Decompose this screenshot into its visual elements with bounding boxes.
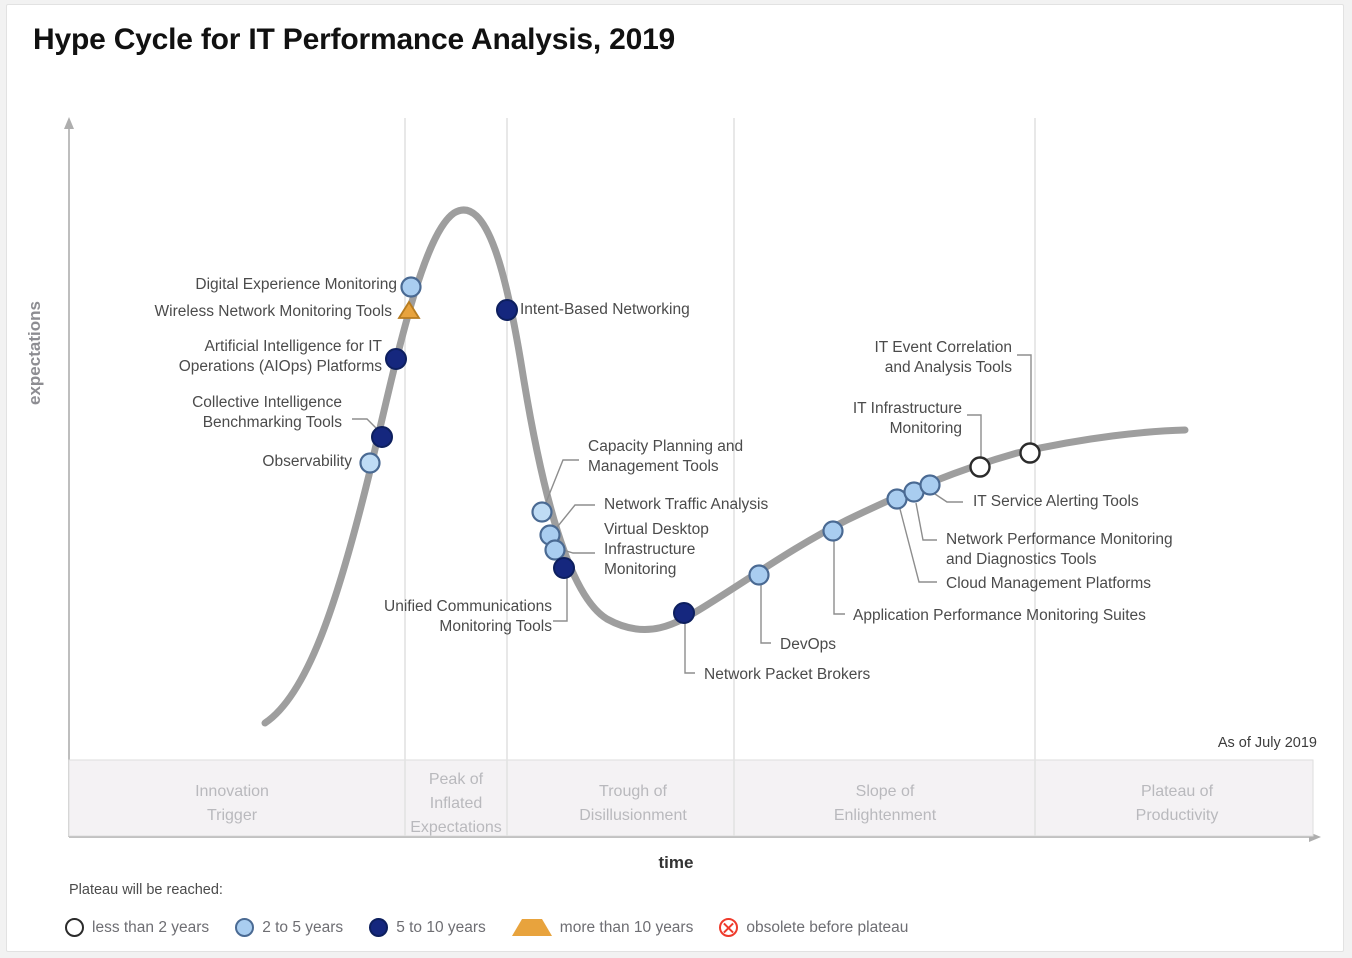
dark-blue-circle-icon	[369, 918, 388, 937]
leader-it-service-alerting	[935, 494, 963, 502]
legend-item-5-to-10-years[interactable]: 5 to 10 years	[369, 918, 486, 937]
point-observability[interactable]	[361, 454, 380, 473]
label-capacity-planning-and-management-tools: Capacity Planning and Management Tools	[588, 437, 848, 477]
leader-unified-communications	[553, 577, 567, 621]
leader-apm-suites	[834, 541, 845, 614]
label-virtual-desktop-infrastructure-monitoring: Virtual Desktop Infrastructure Monitorin…	[604, 520, 794, 580]
label-cloud-management-platforms: Cloud Management Platforms	[946, 574, 1246, 594]
red-crossed-circle-icon	[719, 918, 738, 937]
light-blue-circle-icon	[235, 918, 254, 937]
point-wireless-network-monitoring-tools[interactable]	[399, 302, 419, 318]
point-unified-communications-monitoring-tools[interactable]	[554, 558, 574, 578]
label-network-traffic-analysis: Network Traffic Analysis	[604, 495, 864, 515]
legend-label: 5 to 10 years	[396, 919, 486, 937]
white-circle-icon	[65, 918, 84, 937]
y-axis-arrow	[64, 117, 74, 129]
label-intent-based-networking: Intent-Based Networking	[520, 300, 800, 320]
legend-label: obsolete before plateau	[746, 919, 908, 937]
point-aiops-platforms[interactable]	[386, 349, 406, 369]
legend-item-more-than-10-years[interactable]: more than 10 years	[512, 919, 694, 937]
label-digital-experience-monitoring: Digital Experience Monitoring	[157, 275, 397, 295]
leader-devops	[761, 585, 771, 643]
point-digital-experience-monitoring[interactable]	[402, 278, 421, 297]
phase-label-slope-of-enlightenment: Slope of Enlightenment	[795, 780, 975, 828]
point-application-performance-monitoring-suites[interactable]	[824, 522, 843, 541]
legend-heading: Plateau will be reached:	[69, 882, 223, 898]
point-virtual-desktop-infrastructure-monitoring[interactable]	[546, 541, 565, 560]
label-it-event-correlation-and-analysis-tools: IT Event Correlation and Analysis Tools	[822, 338, 1012, 378]
phase-label-innovation-trigger: Innovation Trigger	[117, 780, 347, 828]
label-observability: Observability	[187, 452, 352, 472]
legend-label: 2 to 5 years	[262, 919, 343, 937]
leader-it-infrastructure-monitoring	[967, 415, 981, 457]
legend: less than 2 years 2 to 5 years 5 to 10 y…	[65, 918, 908, 937]
label-network-performance-monitoring-and-diagnostics-tools: Network Performance Monitoring and Diagn…	[946, 530, 1236, 570]
label-wireless-network-monitoring-tools: Wireless Network Monitoring Tools	[107, 302, 392, 322]
legend-item-less-than-2-years[interactable]: less than 2 years	[65, 918, 209, 937]
legend-label: less than 2 years	[92, 919, 209, 937]
label-network-packet-brokers: Network Packet Brokers	[704, 665, 964, 685]
point-it-service-alerting-tools[interactable]	[921, 476, 940, 495]
phase-label-plateau-of-productivity: Plateau of Productivity	[1087, 780, 1267, 828]
phase-label-peak-of-inflated-expectations: Peak of Inflated Expectations	[391, 768, 521, 840]
label-it-infrastructure-monitoring: IT Infrastructure Monitoring	[807, 399, 962, 439]
point-it-infrastructure-monitoring[interactable]	[971, 458, 990, 477]
chart-card: Hype Cycle for IT Performance Analysis, …	[6, 4, 1344, 952]
point-collective-intelligence-benchmarking-tools[interactable]	[372, 427, 392, 447]
legend-item-2-to-5-years[interactable]: 2 to 5 years	[235, 918, 343, 937]
legend-item-obsolete-before-plateau[interactable]: obsolete before plateau	[719, 918, 908, 937]
label-unified-communications-monitoring-tools: Unified Communications Monitoring Tools	[337, 597, 552, 637]
label-collective-intelligence-benchmarking-tools: Collective Intelligence Benchmarking Too…	[137, 393, 342, 433]
label-application-performance-monitoring-suites: Application Performance Monitoring Suite…	[853, 606, 1213, 626]
point-network-packet-brokers[interactable]	[674, 603, 694, 623]
legend-label: more than 10 years	[560, 919, 694, 937]
point-intent-based-networking[interactable]	[497, 300, 517, 320]
point-it-event-correlation-and-analysis-tools[interactable]	[1021, 444, 1040, 463]
leader-network-packet-brokers	[685, 623, 695, 673]
label-it-service-alerting-tools: IT Service Alerting Tools	[973, 492, 1223, 512]
leader-network-traffic	[554, 505, 595, 531]
orange-triangle-icon	[512, 919, 552, 936]
leader-npmd	[916, 503, 937, 540]
label-devops: DevOps	[780, 635, 900, 655]
leader-it-event-correlation	[1017, 355, 1031, 443]
label-aiops-platforms: Artificial Intelligence for IT Operation…	[127, 337, 382, 377]
phase-label-trough-of-disillusionment: Trough of Disillusionment	[535, 780, 731, 828]
point-capacity-planning-and-management-tools[interactable]	[533, 503, 552, 522]
